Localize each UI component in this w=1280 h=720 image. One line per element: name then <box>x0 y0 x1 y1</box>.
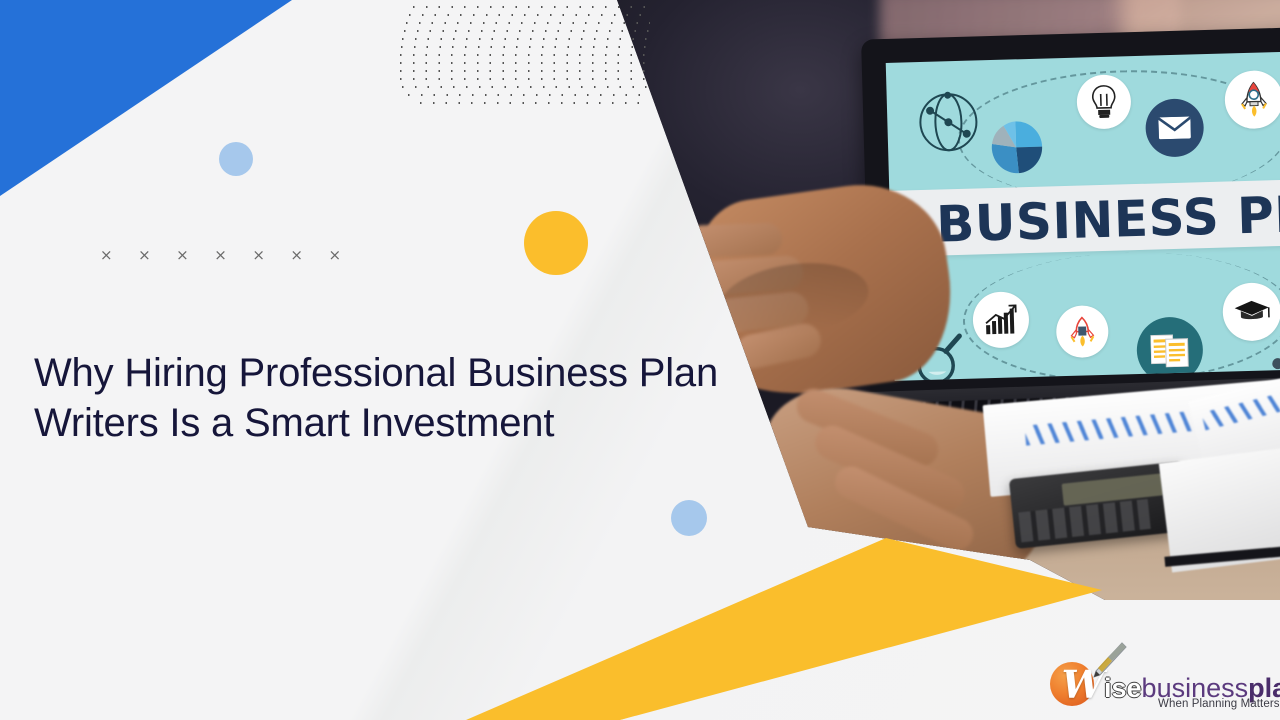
pie-chart-icon <box>987 121 1044 175</box>
decor-dot-blue-top <box>219 142 253 176</box>
brand-logo[interactable]: W isebusinessplans® When Planning Matter… <box>1046 645 1266 711</box>
screen-title: BUSINESS PLAN <box>935 183 1280 254</box>
wave-pattern <box>400 0 650 110</box>
x-mark: × <box>176 248 189 263</box>
envelope-icon <box>1158 116 1191 139</box>
bar-chart-growth-icon <box>984 304 1019 335</box>
calculator-keys <box>1018 499 1150 542</box>
rocket-icon <box>1238 81 1269 118</box>
screen-dot <box>1272 358 1280 369</box>
lightbulb-icon <box>1090 85 1117 120</box>
x-mark: × <box>100 248 113 263</box>
x-mark: × <box>328 248 341 263</box>
x-mark-row: × × × × × × × <box>100 248 341 263</box>
logo-tagline: When Planning Matters <box>1158 698 1280 710</box>
graduation-cap-bubble <box>1222 282 1280 342</box>
notebook <box>1159 447 1280 572</box>
logo-word-ise: ise <box>1104 673 1142 703</box>
graduation-cap-icon <box>1233 298 1270 325</box>
decor-dot-blue-bottom <box>671 500 707 536</box>
rocket-bulb-icon <box>1067 315 1098 348</box>
x-mark: × <box>252 248 265 263</box>
x-mark: × <box>290 248 303 263</box>
documents-icon <box>1150 333 1189 368</box>
laptop-screen: BUSINESS PLAN <box>886 51 1280 381</box>
network-icon <box>917 90 981 154</box>
slide-canvas: BUSINESS PLAN <box>0 0 1280 720</box>
x-mark: × <box>138 248 151 263</box>
page-title: Why Hiring Professional Business Plan Wr… <box>34 348 734 448</box>
decor-dot-yellow <box>524 211 588 275</box>
x-mark: × <box>214 248 227 263</box>
calculator-display <box>1062 473 1164 505</box>
blue-corner-shape <box>0 0 300 200</box>
